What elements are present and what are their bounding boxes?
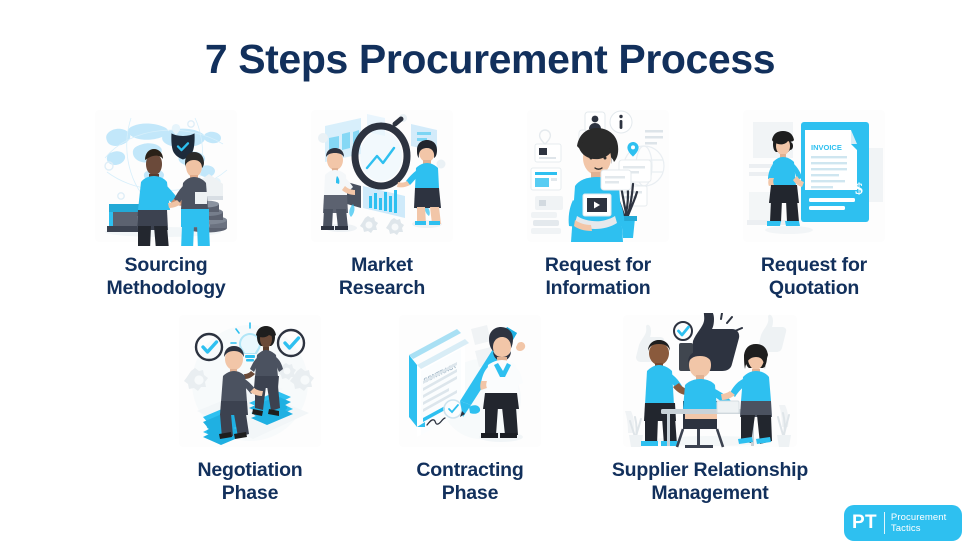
steps-row-2: Negotiation Phase: [0, 313, 980, 505]
caption-line-1: Request for: [719, 254, 909, 277]
step-caption: Supplier Relationship Management: [595, 459, 825, 505]
logo-word-line-2: Tactics: [891, 523, 946, 534]
caption-line-1: Contracting: [375, 459, 565, 482]
caption-line-1: Negotiation: [155, 459, 345, 482]
slide-canvas: 7 Steps Procurement Process: [0, 0, 980, 551]
step-caption: Negotiation Phase: [155, 459, 345, 505]
logo-mark: PT: [852, 512, 884, 534]
caption-line-2: Information: [503, 277, 693, 300]
step-caption: Request for Quotation: [719, 254, 909, 300]
step-request-for-information[interactable]: Request for Information: [503, 108, 693, 300]
invoice-heading: INVOICE: [811, 143, 842, 152]
video-play-card: [583, 194, 611, 216]
handshake-world-map-illustration: $: [91, 108, 241, 246]
caption-line-1: Supplier Relationship: [595, 459, 825, 482]
info-icon: [610, 111, 632, 133]
step-market-research[interactable]: Market Research: [287, 108, 477, 300]
caption-line-1: Request for: [503, 254, 693, 277]
step-contracting-phase[interactable]: CONTRACT: [375, 313, 565, 505]
caption-line-2: Phase: [155, 482, 345, 505]
currency-symbol: $: [855, 181, 863, 198]
step-caption: Contracting Phase: [375, 459, 565, 505]
team-thumbs-up-illustration: [621, 313, 799, 451]
step-caption: Request for Information: [503, 254, 693, 300]
caption-line-1: Sourcing: [71, 254, 261, 277]
contract-signing-illustration: CONTRACT: [395, 313, 545, 451]
caption-line-2: Methodology: [71, 277, 261, 300]
step-sourcing-methodology[interactable]: $: [71, 108, 261, 300]
caption-line-2: Phase: [375, 482, 565, 505]
step-supplier-relationship-management[interactable]: Supplier Relationship Management: [595, 313, 825, 505]
invoice-sheet: INVOICE: [805, 130, 857, 190]
step-negotiation-phase[interactable]: Negotiation Phase: [155, 313, 345, 505]
caption-line-2: Management: [595, 482, 825, 505]
invoice-document-illustration: INVOICE $: [739, 108, 889, 246]
step-caption: Sourcing Methodology: [71, 254, 261, 300]
caption-line-2: Research: [287, 277, 477, 300]
caption-line-2: Quotation: [719, 277, 909, 300]
person-info-cards-illustration: [523, 108, 673, 246]
procurement-tactics-logo[interactable]: PT Procurement Tactics: [844, 505, 962, 541]
puzzle-handshake-illustration: [175, 313, 325, 451]
step-request-for-quotation[interactable]: INVOICE $: [719, 108, 909, 300]
page-title: 7 Steps Procurement Process: [0, 36, 980, 83]
caption-line-1: Market: [287, 254, 477, 277]
logo-word-line-1: Procurement: [891, 512, 946, 523]
magnifying-glass-charts-illustration: [307, 108, 457, 246]
steps-row-1: $: [0, 108, 980, 300]
step-caption: Market Research: [287, 254, 477, 300]
logo-wordmark: Procurement Tactics: [885, 512, 946, 534]
